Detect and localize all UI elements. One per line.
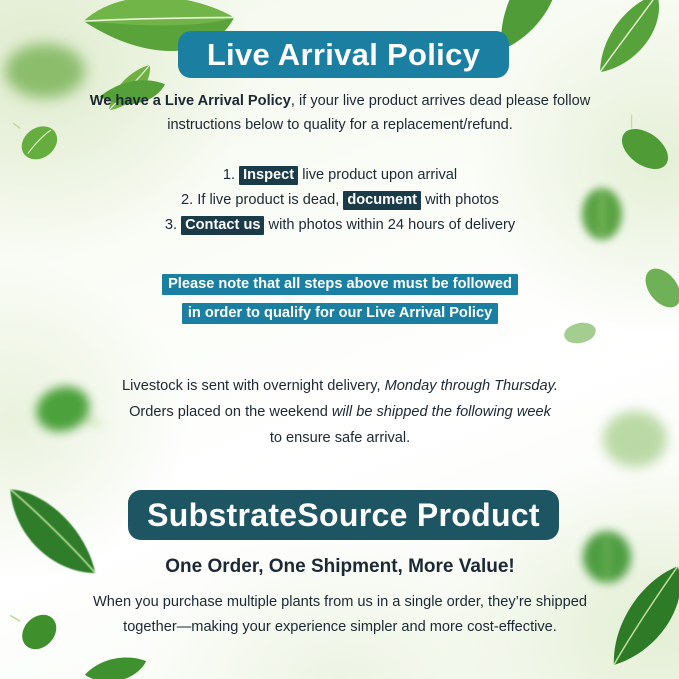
live-arrival-policy-infographic: Live Arrival Policy We have a Live Arriv… <box>0 0 679 679</box>
livestock-line-2-plain: Orders placed on the weekend <box>129 404 328 420</box>
policy-note-highlight-2: in order to qualify for our Live Arrival… <box>182 303 498 324</box>
step-number: 3. <box>165 217 177 233</box>
value-line-2: together—making your experience simpler … <box>123 619 557 635</box>
step-text-before: If live product is dead, <box>197 192 339 208</box>
substrate-source-product-banner-label: SubstrateSource Product <box>147 497 540 534</box>
substrate-source-product-banner: SubstrateSource Product <box>128 490 559 540</box>
livestock-shipping-paragraph: Livestock is sent with overnight deliver… <box>70 374 610 452</box>
step-number: 2. <box>181 192 193 208</box>
policy-steps-list: 1. Inspect live product upon arrival 2. … <box>60 163 620 238</box>
policy-note-highlight-1: Please note that all steps above must be… <box>162 274 518 295</box>
step-text-after: with photos within 24 hours of delivery <box>269 217 516 233</box>
intro-rest-line-1: , if your live product arrives dead plea… <box>291 93 590 109</box>
status-badge: document <box>343 191 421 210</box>
live-arrival-policy-banner-label: Live Arrival Policy <box>207 37 480 73</box>
policy-note-line-1: Please note that all steps above must be… <box>60 276 620 292</box>
live-arrival-policy-banner: Live Arrival Policy <box>178 31 509 78</box>
livestock-line-1-italic: Monday through Thursday. <box>385 378 558 394</box>
intro-paragraph: We have a Live Arrival Policy, if your l… <box>60 90 620 137</box>
value-paragraph: When you purchase multiple plants from u… <box>60 590 620 640</box>
livestock-line-1-plain: Livestock is sent with overnight deliver… <box>122 378 380 394</box>
policy-note-line-2: in order to qualify for our Live Arrival… <box>60 305 620 321</box>
intro-line-2: instructions below to quality for a repl… <box>167 117 513 133</box>
content-layer: Live Arrival Policy We have a Live Arriv… <box>0 0 679 679</box>
livestock-line-3: to ensure safe arrival. <box>270 430 410 446</box>
list-item: 1. Inspect live product upon arrival <box>60 163 620 188</box>
intro-bold-text: We have a Live Arrival Policy <box>90 93 291 109</box>
value-line-1: When you purchase multiple plants from u… <box>93 594 587 610</box>
list-item: 2. If live product is dead, document wit… <box>60 188 620 213</box>
step-text-after: live product upon arrival <box>302 167 457 183</box>
page-title-value-headline: One Order, One Shipment, More Value! <box>60 556 620 578</box>
livestock-line-2-italic: will be shipped the following week <box>332 404 551 420</box>
step-text-after: with photos <box>425 192 499 208</box>
status-badge: Contact us <box>181 216 264 235</box>
step-number: 1. <box>223 167 235 183</box>
list-item: 3. Contact us with photos within 24 hour… <box>60 213 620 238</box>
status-badge: Inspect <box>239 166 298 185</box>
